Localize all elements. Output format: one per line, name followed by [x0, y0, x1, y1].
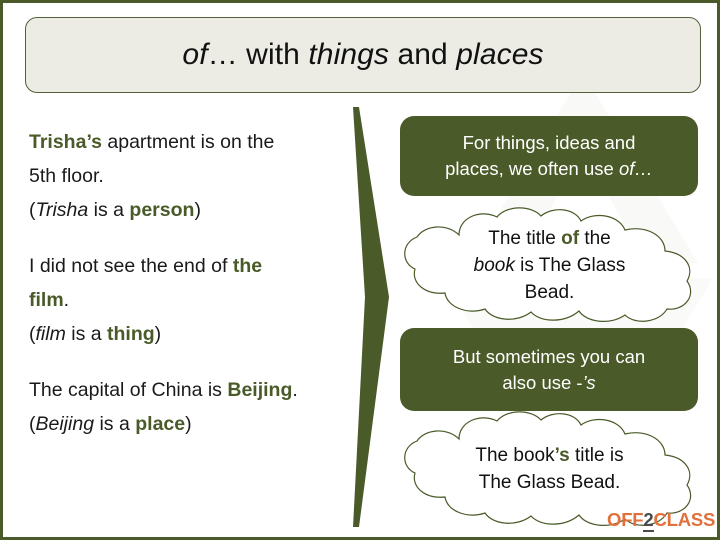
cloud-book-part3: The Glass Bead.: [479, 472, 621, 493]
arrow-divider-icon: [351, 107, 397, 527]
example-1-text: apartment is on the: [102, 131, 274, 153]
thought-cloud-title-of: The title of the book is The Glass Bead.: [397, 205, 702, 325]
note-tag-place: place: [135, 413, 185, 435]
title-keyword-of: of: [182, 38, 207, 71]
note-subject-film: film: [36, 323, 66, 345]
logo-part-two: 2: [643, 509, 653, 532]
cloud-title-emphasis-book: book: [474, 255, 515, 276]
note-subject-beijing: Beijing: [36, 413, 95, 435]
note-close-paren: ): [185, 413, 192, 435]
cloud-title-part1: The title: [488, 228, 561, 249]
cloud-title-part2: the: [579, 228, 611, 249]
cloud-title-keyword-of: of: [561, 228, 579, 249]
cloud-book-part1: The book: [475, 445, 554, 466]
example-block-thing: I did not see the end of the film. (film…: [29, 249, 349, 351]
rule-sometimes-line1: But sometimes you can: [453, 346, 645, 367]
cloud-book-part2: title is: [570, 445, 624, 466]
slide-title-bar: of… with things and places: [25, 17, 701, 93]
off2class-logo: OFF2CLASS: [607, 509, 715, 531]
logo-part-class: CLASS: [654, 509, 716, 530]
example-note-2: (film is a thing): [29, 317, 349, 351]
cloud-title-part4: Bead.: [525, 282, 575, 303]
rule-box-things: For things, ideas and places, we often u…: [400, 116, 698, 196]
logo-part-off: OFF: [607, 509, 643, 530]
title-mid: … with: [208, 38, 309, 71]
note-tag-person: person: [129, 199, 194, 221]
note-close-paren: ): [155, 323, 162, 345]
title-join: and: [389, 38, 456, 71]
example-sentence-3: The capital of China is Beijing.: [29, 373, 349, 407]
example-2-period: .: [64, 289, 69, 311]
example-note-1: (Trisha is a person): [29, 193, 349, 227]
rule-box-apostrophe-s: But sometimes you can also use -’s: [400, 328, 698, 411]
rule-box-sometimes-text: But sometimes you can also use -’s: [453, 344, 645, 396]
note-tag-thing: thing: [107, 323, 155, 345]
rule-sometimes-line2: also use -: [502, 372, 582, 393]
title-emphasis-things: things: [308, 38, 389, 71]
example-3-text: The capital of China is: [29, 379, 227, 401]
cloud-title-text: The title of the book is The Glass Bead.: [397, 205, 702, 325]
example-sentence-2: I did not see the end of the: [29, 249, 349, 283]
example-3-period: .: [292, 379, 297, 401]
note-subject-trisha: Trisha: [36, 199, 89, 221]
example-note-3: (Beijing is a place): [29, 407, 349, 441]
highlight-film: film: [29, 289, 64, 311]
example-block-place: The capital of China is Beijing. (Beijin…: [29, 373, 349, 441]
title-emphasis-places: places: [456, 38, 543, 71]
cloud-title-part3: is The Glass: [515, 255, 626, 276]
note-mid: is a: [94, 413, 135, 435]
rule-things-line1: For things, ideas and: [463, 132, 636, 153]
example-2-text: I did not see the end of: [29, 255, 233, 277]
example-block-person: Trisha’s apartment is on the 5th floor. …: [29, 125, 349, 227]
cloud-book-keyword-s: ’s: [555, 445, 570, 466]
note-mid: is a: [88, 199, 129, 221]
rule-things-emphasis-of: of…: [619, 158, 653, 179]
highlight-the: the: [233, 255, 262, 277]
example-sentence-2-cont: film.: [29, 283, 349, 317]
example-sentence-1: Trisha’s apartment is on the: [29, 125, 349, 159]
examples-column: Trisha’s apartment is on the 5th floor. …: [29, 125, 349, 463]
rule-box-things-text: For things, ideas and places, we often u…: [445, 130, 653, 182]
slide-canvas: of… with things and places Trisha’s apar…: [0, 0, 720, 540]
highlight-trishas: Trisha’s: [29, 131, 102, 153]
rule-things-line2: places, we often use: [445, 158, 619, 179]
note-mid: is a: [66, 323, 107, 345]
highlight-beijing: Beijing: [227, 379, 292, 401]
rule-sometimes-emphasis-s: ’s: [583, 372, 596, 393]
page-title: of… with things and places: [182, 38, 543, 72]
example-sentence-1-cont: 5th floor.: [29, 159, 349, 193]
note-close-paren: ): [194, 199, 201, 221]
